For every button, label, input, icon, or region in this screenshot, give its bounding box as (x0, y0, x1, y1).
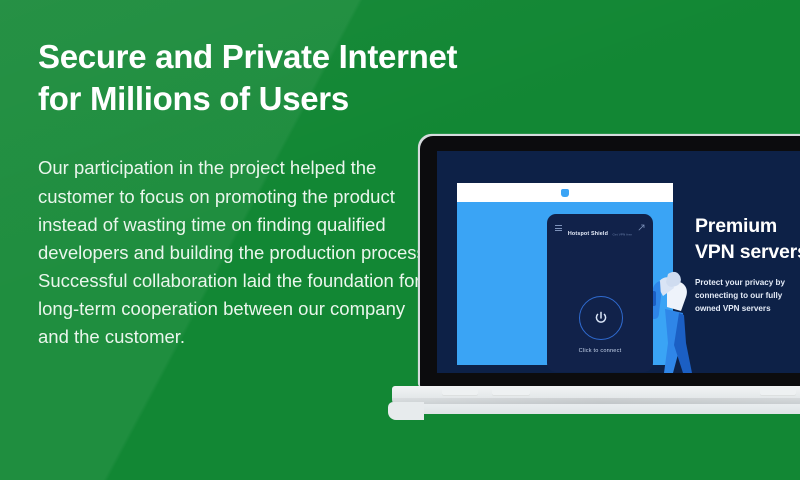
laptop-hinge (492, 387, 530, 396)
laptop-lid: Hotspot Shield Get VPN free (420, 136, 800, 388)
connect-label: Click to connect (547, 348, 653, 354)
laptop-hinge (442, 387, 478, 396)
laptop-foot (388, 402, 424, 420)
laptop-screen: Hotspot Shield Get VPN free (437, 151, 800, 373)
hero-body-text: Our participation in the project helped … (38, 120, 438, 351)
power-icon (593, 310, 609, 326)
slide-canvas: Secure and Private Internet for Millions… (0, 0, 800, 480)
vpn-app-card: Hotspot Shield Get VPN free (547, 214, 653, 372)
app-brand-name: Hotspot Shield (568, 231, 608, 237)
laptop-mockup: Hotspot Shield Get VPN free (420, 136, 800, 436)
share-arrow-icon[interactable] (638, 224, 645, 231)
shield-icon (561, 189, 569, 197)
promo-block: Premium VPN servers Protect your privacy… (695, 213, 800, 316)
promo-subtitle: Protect your privacy by connecting to ou… (695, 265, 800, 315)
connect-power-button[interactable] (579, 296, 623, 340)
app-header: Hotspot Shield Get VPN free (547, 221, 653, 237)
browser-chrome-bar (457, 183, 673, 202)
laptop-hinge (760, 387, 796, 396)
promo-title: Premium VPN servers (695, 213, 800, 265)
laptop-base-lip (392, 404, 800, 414)
page-title: Secure and Private Internet for Millions… (38, 36, 538, 120)
app-tagline: Get VPN free (612, 231, 632, 237)
